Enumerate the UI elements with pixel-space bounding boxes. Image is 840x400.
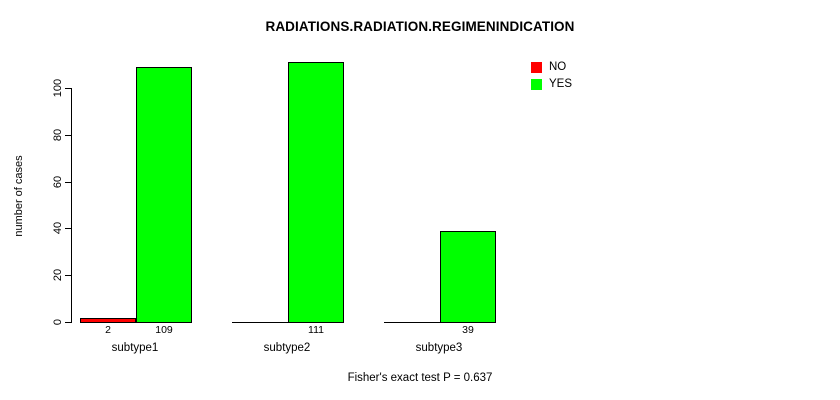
bar-value-subtype3-yes: 39: [443, 324, 493, 336]
y-tick-label-0: 0: [52, 302, 64, 342]
bar-value-subtype1-no: 2: [83, 324, 133, 336]
legend-label-no: NO: [549, 62, 566, 73]
bar-subtype3-yes[interactable]: [440, 231, 496, 323]
group-label-subtype2: subtype2: [237, 342, 337, 354]
bar-subtype1-yes[interactable]: [136, 67, 192, 323]
plot-area: 0 20 40 60 80 100 number of cases 2 109 …: [0, 0, 840, 400]
legend-item-no[interactable]: NO: [531, 60, 572, 75]
legend-label-yes: YES: [549, 79, 572, 90]
y-tick-40: [65, 228, 72, 229]
statistical-test-annotation: Fisher's exact test P = 0.637: [0, 372, 840, 384]
bar-subtype2-yes[interactable]: [288, 62, 344, 323]
y-tick-label-80: 80: [52, 115, 64, 155]
bar-value-subtype1-yes: 109: [139, 324, 189, 336]
y-tick-label-20: 20: [52, 255, 64, 295]
y-tick-80: [65, 135, 72, 136]
chart-root: RADIATIONS.RADIATION.REGIMENINDICATION 0…: [0, 0, 840, 400]
y-axis-line: [71, 88, 72, 323]
y-tick-100: [65, 88, 72, 89]
y-tick-0: [65, 322, 72, 323]
group-label-subtype3: subtype3: [389, 342, 489, 354]
legend-swatch-yes-icon: [531, 79, 542, 90]
group-label-subtype1: subtype1: [85, 342, 185, 354]
legend-swatch-no-icon: [531, 62, 542, 73]
y-tick-20: [65, 275, 72, 276]
y-axis-title: number of cases: [13, 136, 25, 256]
bar-subtype1-no[interactable]: [80, 318, 136, 323]
chart-legend: NO YES: [531, 60, 572, 94]
y-tick-label-40: 40: [52, 208, 64, 248]
bar-subtype3-no[interactable]: [384, 322, 440, 323]
legend-item-yes[interactable]: YES: [531, 77, 572, 92]
bar-subtype2-no[interactable]: [232, 322, 288, 323]
y-tick-label-60: 60: [52, 162, 64, 202]
y-tick-label-100: 100: [52, 68, 64, 108]
y-tick-60: [65, 182, 72, 183]
bar-value-subtype2-yes: 111: [291, 324, 341, 336]
